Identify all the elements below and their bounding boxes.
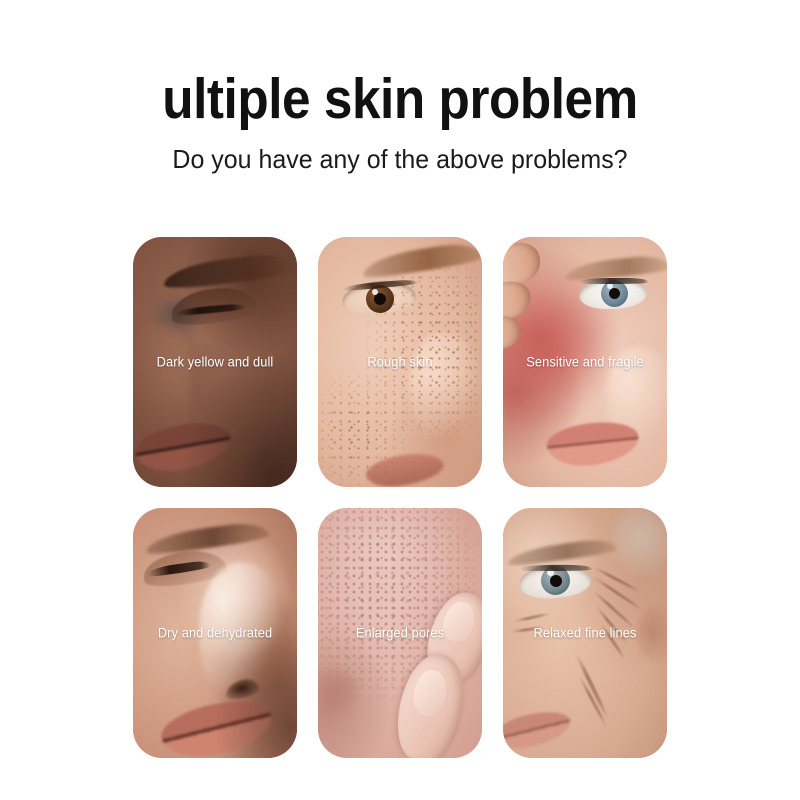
tile-sensitive-and-fragile[interactable]: Sensitive and fragile — [503, 237, 667, 487]
page-subtitle: Do you have any of the above problems? — [16, 142, 784, 176]
tile-dark-yellow-and-dull[interactable]: Dark yellow and dull — [133, 237, 297, 487]
tile-label: Enlarged pores — [322, 625, 478, 642]
tile-label: Dark yellow and dull — [137, 354, 293, 371]
tile-dry-and-dehydrated[interactable]: Dry and dehydrated — [133, 508, 297, 758]
tile-label: Dry and dehydrated — [137, 625, 293, 642]
tile-relaxed-fine-lines[interactable]: Relaxed fine lines — [503, 508, 667, 758]
skin-problem-grid: Dark yellow and dull Rough skin — [133, 237, 667, 758]
tile-rough-skin[interactable]: Rough skin — [318, 237, 482, 487]
tile-label: Sensitive and fragile — [507, 354, 663, 371]
skin-problem-poster: ultiple skin problem Do you have any of … — [0, 0, 800, 800]
page-title: ultiple skin problem — [40, 68, 760, 130]
tile-enlarged-pores[interactable]: Enlarged pores — [318, 508, 482, 758]
tile-label: Rough skin — [322, 354, 478, 371]
tile-label: Relaxed fine lines — [507, 625, 663, 642]
